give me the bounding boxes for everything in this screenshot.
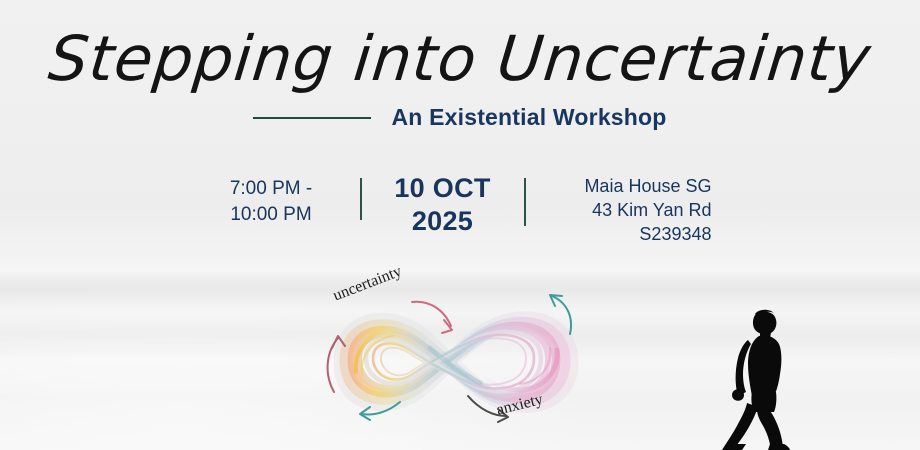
page-title: Stepping into Uncertainty xyxy=(0,24,920,94)
event-date-block: 10 OCT 2025 xyxy=(388,172,498,238)
event-venue-line-2: 43 Kim Yan Rd xyxy=(552,198,712,222)
walking-person-silhouette xyxy=(722,308,814,450)
event-date-line-2: 2025 xyxy=(388,205,498,238)
event-time-line-1: 7:00 PM - xyxy=(209,176,334,202)
event-date-line-1: 10 OCT xyxy=(388,172,498,205)
subtitle-row: An Existential Workshop xyxy=(0,104,920,131)
infinity-loop-graphic: uncertainty anxiety xyxy=(312,276,600,444)
infinity-loop-svg xyxy=(312,276,600,444)
event-info-row: 7:00 PM - 10:00 PM 10 OCT 2025 Maia Hous… xyxy=(0,172,920,246)
subtitle-text: An Existential Workshop xyxy=(391,104,666,131)
event-venue-line-3: S239348 xyxy=(552,222,712,246)
event-time-block: 7:00 PM - 10:00 PM xyxy=(209,172,334,228)
event-time-line-2: 10:00 PM xyxy=(209,202,334,228)
info-divider-2 xyxy=(524,178,526,226)
event-venue-line-1: Maia House SG xyxy=(552,174,712,198)
event-venue-block: Maia House SG 43 Kim Yan Rd S239348 xyxy=(552,172,712,246)
info-divider-1 xyxy=(360,178,362,220)
poster-canvas: Stepping into Uncertainty An Existential… xyxy=(0,0,920,450)
subtitle-rule xyxy=(253,117,371,119)
